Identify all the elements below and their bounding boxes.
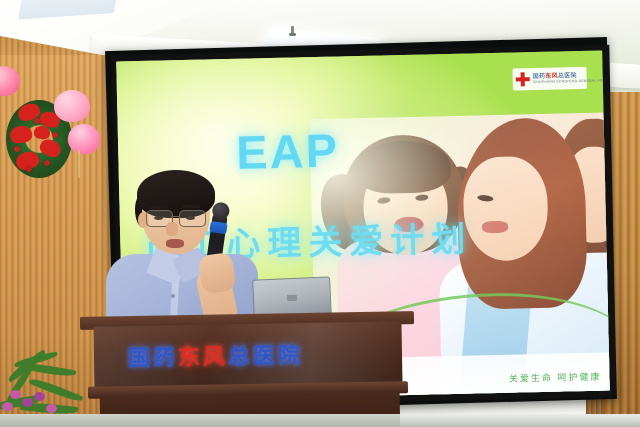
presenter-mouth xyxy=(166,239,184,248)
podium: 国药东风总医院 xyxy=(84,314,410,427)
slide-title: EAP xyxy=(236,123,340,180)
microphone-head xyxy=(211,201,230,220)
wreath-berry xyxy=(14,146,20,152)
shirt-button xyxy=(171,294,175,298)
wreath-berry xyxy=(34,118,40,124)
slide-tagline: 关爱生命 呵护健康 xyxy=(509,370,602,385)
podium-sign-part-1: 国药 xyxy=(128,345,178,371)
laptop-logo xyxy=(287,295,297,301)
plant-flower xyxy=(22,398,33,407)
podium-sign: 国药东风总医院 xyxy=(128,337,304,372)
plant-flower xyxy=(10,390,21,399)
hospital-logo: 国药东风总医院 SINOPHARM DONGFENG GENERAL HOSPI… xyxy=(512,67,586,91)
podium-sign-part-2: 东风 xyxy=(178,344,228,370)
podium-sign-part-3: 总医院 xyxy=(228,342,303,368)
eyeglass-bridge xyxy=(171,216,179,217)
presenter-nose xyxy=(166,222,178,236)
plant-flower xyxy=(46,404,57,413)
balloon-string xyxy=(78,150,80,178)
hospital-logo-text: 国药东风总医院 SINOPHARM DONGFENG GENERAL HOSPI… xyxy=(533,72,610,84)
eyeglass-lens xyxy=(179,210,206,227)
plant-flower xyxy=(2,402,13,411)
wreath-berry xyxy=(44,160,50,166)
photo-scene: 关爱生命 呵护健康 国药东风总医院 SINOPHARM DONGFENG GEN… xyxy=(0,0,640,427)
wreath-berry xyxy=(26,166,32,172)
hospital-name-en: SINOPHARM DONGFENG GENERAL HOSPITAL xyxy=(533,79,610,84)
wreath-berry xyxy=(52,132,58,138)
wreath-flower xyxy=(33,125,50,140)
presenter-hand xyxy=(198,252,237,294)
red-cross-icon xyxy=(516,72,530,86)
plant-flower xyxy=(34,392,45,401)
fire-sprinkler-icon xyxy=(291,26,294,35)
pink-balloon xyxy=(54,90,90,122)
microphone-band xyxy=(209,221,227,234)
floor-reflection xyxy=(400,414,640,427)
